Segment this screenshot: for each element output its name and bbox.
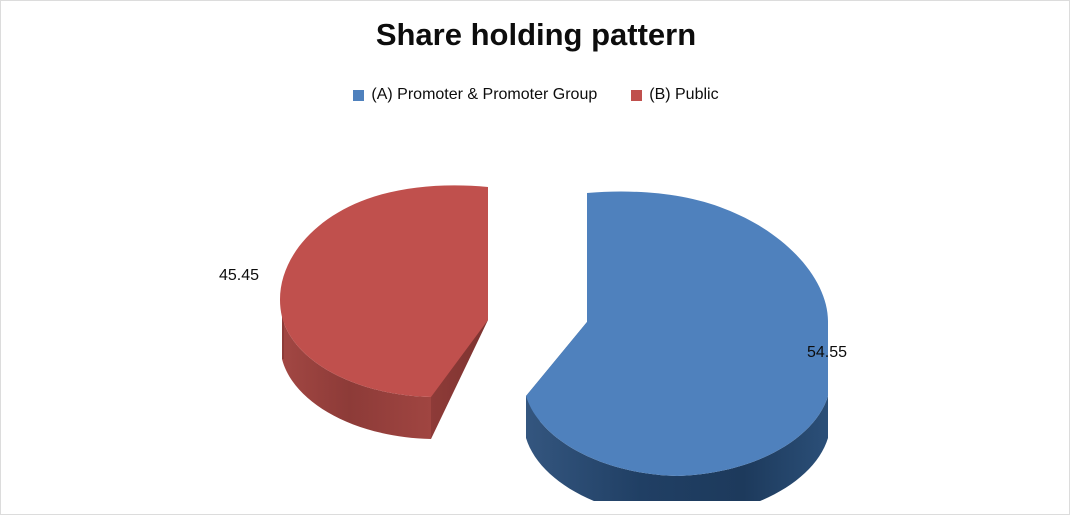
pie-slice-promoter-top <box>526 192 828 476</box>
legend-swatch-promoter-icon <box>353 90 364 101</box>
legend-label-public: (B) Public <box>649 86 718 104</box>
data-label-promoter: 54.55 <box>807 344 847 362</box>
pie-slice-public[interactable] <box>280 185 488 439</box>
pie-slice-public-cut-face-left <box>282 317 284 359</box>
legend-item-public[interactable]: (B) Public <box>631 86 718 104</box>
plot-area: 45.45 54.55 <box>1 121 1070 501</box>
data-label-public: 45.45 <box>219 267 259 285</box>
chart-title: Share holding pattern <box>1 19 1070 50</box>
legend-item-promoter[interactable]: (A) Promoter & Promoter Group <box>353 86 597 104</box>
legend-label-promoter: (A) Promoter & Promoter Group <box>371 86 597 104</box>
legend-swatch-public-icon <box>631 90 642 101</box>
chart-legend: (A) Promoter & Promoter Group (B) Public <box>1 86 1070 104</box>
pie-chart-container: Share holding pattern (A) Promoter & Pro… <box>0 0 1070 515</box>
pie-slice-promoter[interactable] <box>526 192 828 501</box>
pie-svg <box>1 121 1070 501</box>
